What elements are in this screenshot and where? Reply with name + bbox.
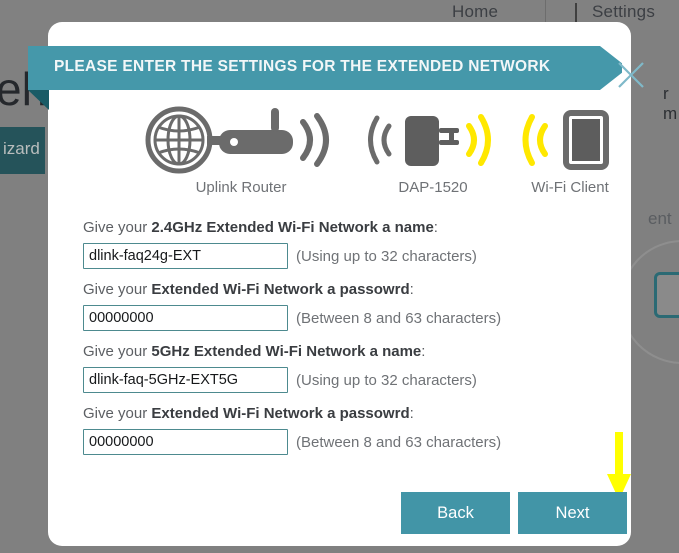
background-text-fragment-right-mid: ent: [648, 209, 672, 229]
field-label-5ghz-ssid: Give your 5GHz Extended Wi-Fi Network a …: [83, 342, 631, 362]
field-label-24ghz-password: Give your Extended Wi-Fi Network a passo…: [83, 280, 631, 300]
input-5ghz-ssid[interactable]: [83, 367, 288, 393]
diagram-caption-uplink-router: Uplink Router: [126, 179, 356, 196]
label-suffix: :: [410, 405, 414, 422]
label-strong: Extended Wi-Fi Network a passowrd: [151, 405, 409, 422]
field-5ghz-password: Give your Extended Wi-Fi Network a passo…: [48, 404, 631, 455]
extended-network-settings-dialog: PLEASE ENTER THE SETTINGS FOR THE EXTEND…: [48, 22, 631, 546]
field-label-24ghz-ssid: Give your 2.4GHz Extended Wi-Fi Network …: [83, 218, 631, 238]
label-suffix: :: [434, 219, 438, 236]
hint-24ghz-password: (Between 8 and 63 characters): [296, 310, 501, 327]
diagram-item-uplink-router: Uplink Router: [126, 104, 356, 196]
label-suffix: :: [410, 281, 414, 298]
label-prefix: Give your: [83, 219, 151, 236]
wifi-client-icon: [500, 104, 640, 176]
dialog-title-ribbon: PLEASE ENTER THE SETTINGS FOR THE EXTEND…: [28, 46, 628, 90]
nav-item-home[interactable]: Home: [452, 2, 498, 22]
background-wizard-chip-label: izard: [3, 139, 40, 159]
network-topology-diagram: Uplink Router DAP-1: [48, 104, 631, 214]
hint-24ghz-ssid: (Using up to 32 characters): [296, 248, 477, 265]
label-strong: 5GHz Extended Wi-Fi Network a name: [151, 343, 421, 360]
field-5ghz-ssid: Give your 5GHz Extended Wi-Fi Network a …: [48, 342, 631, 393]
hint-5ghz-password: (Between 8 and 63 characters): [296, 434, 501, 451]
next-button[interactable]: Next: [518, 492, 627, 534]
dialog-title: PLEASE ENTER THE SETTINGS FOR THE EXTEND…: [54, 58, 550, 76]
label-prefix: Give your: [83, 405, 151, 422]
extended-network-form: Give your 2.4GHz Extended Wi-Fi Network …: [48, 218, 631, 466]
field-24ghz-ssid: Give your 2.4GHz Extended Wi-Fi Network …: [48, 218, 631, 269]
label-prefix: Give your: [83, 281, 151, 298]
dap-1520-extender-icon: [348, 104, 518, 176]
background-text-fragment-right-top: r m: [663, 84, 679, 124]
nav-item-settings[interactable]: Settings: [592, 2, 655, 22]
dialog-button-row: Back Next: [401, 492, 627, 534]
diagram-caption-dap-1520: DAP-1520: [348, 179, 518, 196]
label-strong: 2.4GHz Extended Wi-Fi Network a name: [151, 219, 433, 236]
back-button[interactable]: Back: [401, 492, 510, 534]
input-5ghz-password[interactable]: [83, 429, 288, 455]
diagram-caption-wifi-client: Wi-Fi Client: [500, 179, 640, 196]
input-24ghz-ssid[interactable]: [83, 243, 288, 269]
background-device-graphic: [654, 272, 679, 318]
field-24ghz-password: Give your Extended Wi-Fi Network a passo…: [48, 280, 631, 331]
label-suffix: :: [421, 343, 425, 360]
diagram-item-dap-1520: DAP-1520: [348, 104, 518, 196]
diagram-item-wifi-client: Wi-Fi Client: [500, 104, 640, 196]
close-icon[interactable]: [614, 58, 648, 92]
label-strong: Extended Wi-Fi Network a passowrd: [151, 281, 409, 298]
uplink-router-icon: [126, 104, 356, 176]
field-label-5ghz-password: Give your Extended Wi-Fi Network a passo…: [83, 404, 631, 424]
hint-5ghz-ssid: (Using up to 32 characters): [296, 372, 477, 389]
input-24ghz-password[interactable]: [83, 305, 288, 331]
background-wizard-chip: izard: [0, 127, 45, 174]
label-prefix: Give your: [83, 343, 151, 360]
